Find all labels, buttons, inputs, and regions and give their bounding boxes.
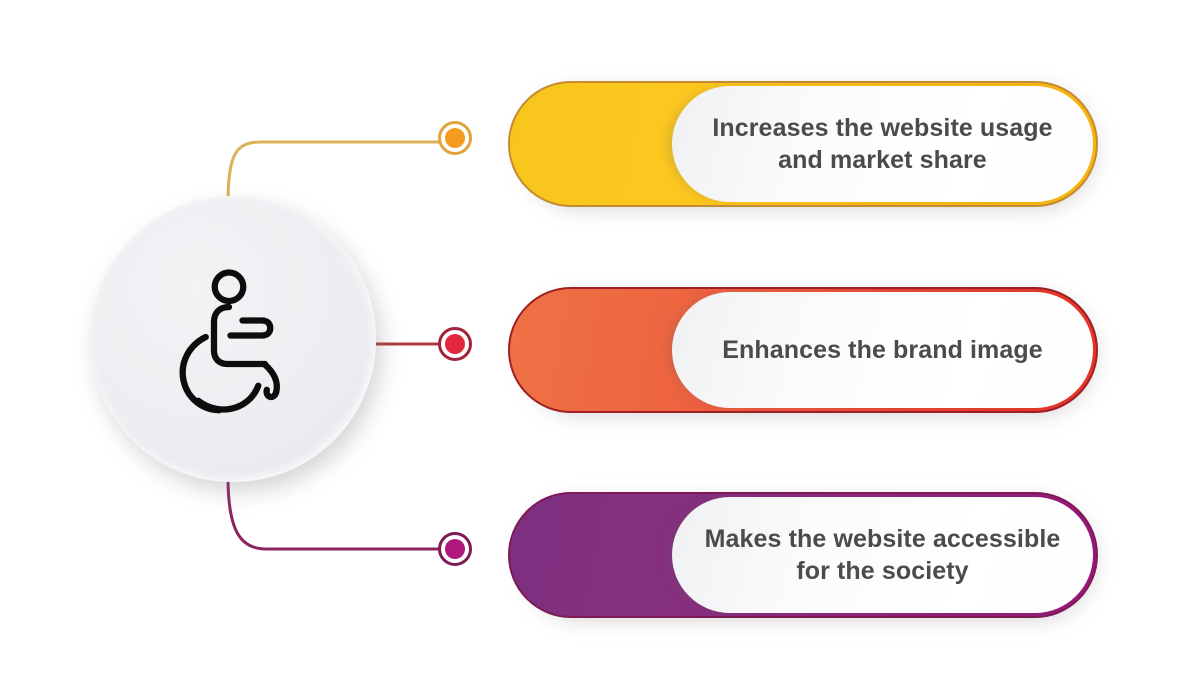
pill-text-panel: Increases the website usage and market s…	[672, 86, 1093, 202]
pill-text-panel: Enhances the brand image	[672, 292, 1093, 408]
connector-node-core	[445, 128, 465, 148]
connector-node-middle[interactable]	[438, 327, 472, 361]
connector-node-bottom[interactable]	[438, 532, 472, 566]
connector-line-bottom	[228, 477, 444, 549]
center-icon-circle	[90, 196, 376, 482]
wheelchair-accessibility-icon	[160, 265, 310, 415]
connector-line-top	[228, 142, 444, 203]
connector-node-core	[445, 539, 465, 559]
benefit-pill-makes-website-accessible[interactable]: Makes the website accessible for the soc…	[508, 492, 1098, 618]
infographic-canvas: Increases the website usage and market s…	[0, 0, 1200, 700]
pill-text-panel: Makes the website accessible for the soc…	[672, 497, 1093, 613]
benefit-label: Enhances the brand image	[696, 334, 1069, 366]
connector-node-top[interactable]	[438, 121, 472, 155]
benefit-pill-increases-website-usage[interactable]: Increases the website usage and market s…	[508, 81, 1098, 207]
benefit-label: Makes the website accessible for the soc…	[679, 523, 1087, 587]
connector-node-core	[445, 334, 465, 354]
benefit-label: Increases the website usage and market s…	[686, 112, 1078, 176]
benefit-pill-enhances-brand-image[interactable]: Enhances the brand image	[508, 287, 1098, 413]
